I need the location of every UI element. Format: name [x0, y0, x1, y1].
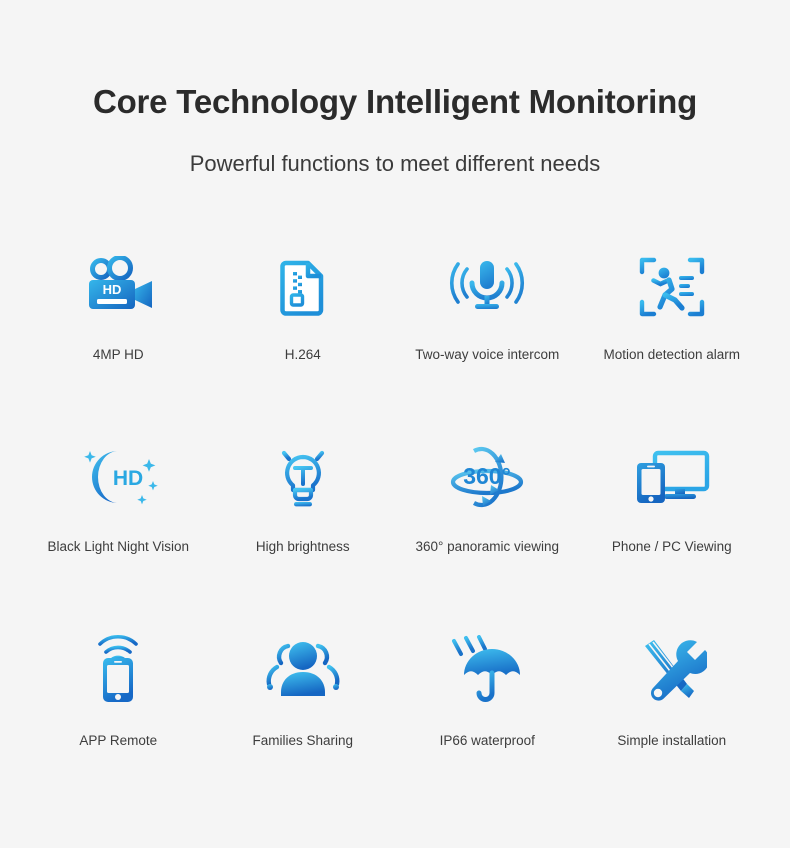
- phone-wifi-signal-icon: [90, 619, 146, 719]
- feature-item-4mp-hd[interactable]: HD 4MP HD: [26, 235, 211, 427]
- feature-label: Two-way voice intercom: [415, 347, 559, 362]
- feature-label: IP66 waterproof: [440, 733, 535, 748]
- feature-showcase-page: Core Technology Intelligent Monitoring P…: [0, 0, 790, 848]
- feature-label: Simple installation: [617, 733, 726, 748]
- svg-text:HD: HD: [113, 467, 143, 490]
- svg-text:HD: HD: [103, 282, 122, 297]
- feature-label: High brightness: [256, 539, 350, 554]
- feature-item-families-sharing[interactable]: Families Sharing: [211, 619, 396, 811]
- feature-item-ip66-waterproof[interactable]: IP66 waterproof: [395, 619, 580, 811]
- umbrella-rain-icon: [448, 619, 526, 719]
- panoramic-360-label: 360°: [463, 463, 511, 489]
- three-people-group-icon: [265, 619, 341, 719]
- page-subtitle: Powerful functions to meet different nee…: [0, 151, 790, 177]
- feature-item-app-remote[interactable]: APP Remote: [26, 619, 211, 811]
- hd-video-camera-icon: HD: [82, 235, 154, 339]
- feature-label: APP Remote: [79, 733, 157, 748]
- wrench-screwdriver-icon: [637, 619, 707, 719]
- feature-label: Motion detection alarm: [603, 347, 740, 362]
- feature-label: Phone / PC Viewing: [612, 539, 732, 554]
- panoramic-360-rotation-icon: 360°: [447, 427, 527, 527]
- feature-item-two-way-voice-intercom[interactable]: Two-way voice intercom: [395, 235, 580, 427]
- document-codec-icon: [280, 235, 326, 339]
- feature-item-motion-detection-alarm[interactable]: Motion detection alarm: [580, 235, 765, 427]
- feature-item-simple-installation[interactable]: Simple installation: [580, 619, 765, 811]
- microphone-sound-waves-icon: [448, 235, 526, 339]
- crescent-moon-hd-icon: HD: [76, 427, 160, 527]
- feature-item-black-light-night-vision[interactable]: HD Black Light Night Vision: [26, 427, 211, 619]
- feature-grid: HD 4MP HD: [0, 235, 790, 811]
- feature-item-360-panoramic-viewing[interactable]: 360° 360° panoramic viewing: [395, 427, 580, 619]
- feature-item-high-brightness[interactable]: High brightness: [211, 427, 396, 619]
- feature-label: Families Sharing: [252, 733, 353, 748]
- feature-item-h264[interactable]: H.264: [211, 235, 396, 427]
- feature-item-phone-pc-viewing[interactable]: Phone / PC Viewing: [580, 427, 765, 619]
- monitor-and-phone-icon: [633, 427, 711, 527]
- page-header: Core Technology Intelligent Monitoring P…: [0, 0, 790, 177]
- motion-detection-running-person-icon: [639, 235, 705, 339]
- page-title: Core Technology Intelligent Monitoring: [0, 82, 790, 122]
- feature-label: 360° panoramic viewing: [416, 539, 559, 554]
- light-bulb-icon: [271, 427, 335, 527]
- feature-label: 4MP HD: [93, 347, 144, 362]
- feature-label: Black Light Night Vision: [47, 539, 189, 554]
- feature-label: H.264: [285, 347, 321, 362]
